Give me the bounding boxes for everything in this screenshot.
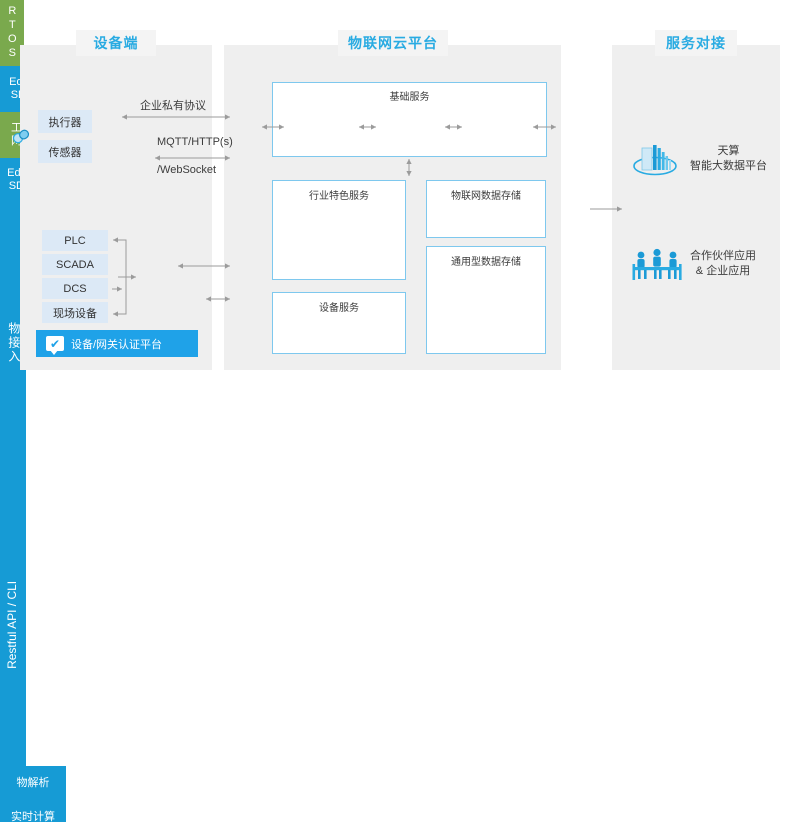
auth-platform-bar[interactable]: ✔ 设备/网关认证平台 (36, 330, 198, 357)
service-partners-line2: & 企业应用 (690, 264, 756, 279)
device-services-box: 设备服务 (272, 292, 406, 354)
rtos-label: RTOS (6, 5, 19, 61)
cloud-panel-title: 物联网云平台 (338, 30, 448, 56)
service-panel (612, 45, 780, 370)
service-bigdata-line2: 智能大数据平台 (690, 159, 767, 174)
general-storage-box: 通用型数据存储 (426, 246, 546, 354)
service-partners-text: 合作伙伴应用 & 企业应用 (690, 249, 756, 279)
service-bigdata-text: 天算 智能大数据平台 (690, 144, 767, 174)
sensor-row: 传感器 (38, 140, 92, 163)
basic-services-box: 基础服务 (272, 82, 547, 157)
field-device-plc: PLC (42, 230, 108, 251)
restful-api-bar: Restful API / CLI (0, 484, 26, 766)
service-bigdata-line1: 天算 (690, 144, 767, 159)
protocol-mqtt-label-line2: /WebSocket (157, 164, 216, 176)
device-panel-title: 设备端 (76, 30, 156, 56)
sensor-chip-icon (10, 125, 34, 147)
field-device-dcs: DCS (42, 278, 108, 299)
service-panel-title: 服务对接 (655, 30, 737, 56)
check-badge-icon: ✔ (46, 336, 64, 351)
ingress-label: 物接入 (6, 322, 20, 364)
industry-services-title: 行业特色服务 (273, 187, 405, 202)
field-device-onsite: 现场设备 (42, 302, 108, 323)
service-partners-line1: 合作伙伴应用 (690, 249, 756, 264)
architecture-diagram: 设备端 物联网云平台 服务对接 执行器 传感器 RTOS Edge SDK 企业… (0, 0, 802, 411)
restful-api-label: Restful API / CLI (6, 581, 20, 669)
protocol-mqtt-label-line1: MQTT/HTTP(s) (157, 136, 233, 148)
service-item-bigdata: 天算 智能大数据平台 (630, 135, 780, 183)
basic-services-title: 基础服务 (273, 88, 546, 103)
device-services-title: 设备服务 (273, 299, 405, 314)
protocol-private-label: 企业私有协议 (140, 97, 206, 113)
basic-service-parse: 物解析 (0, 766, 66, 800)
partners-meeting-icon (630, 244, 684, 284)
field-device-scada: SCADA (42, 254, 108, 275)
service-item-partners: 合作伙伴应用 & 企业应用 (630, 240, 780, 288)
basic-service-realtime: 实时计算 (0, 800, 66, 822)
iot-storage-box: 物联网数据存储 (426, 180, 546, 238)
auth-platform-label: 设备/网关认证平台 (71, 336, 162, 352)
industry-services-box: 行业特色服务 (272, 180, 406, 280)
big-data-cloud-icon (630, 139, 680, 179)
general-storage-title: 通用型数据存储 (427, 253, 545, 268)
actuator-row: 执行器 (38, 110, 92, 133)
iot-storage-title: 物联网数据存储 (427, 187, 545, 202)
